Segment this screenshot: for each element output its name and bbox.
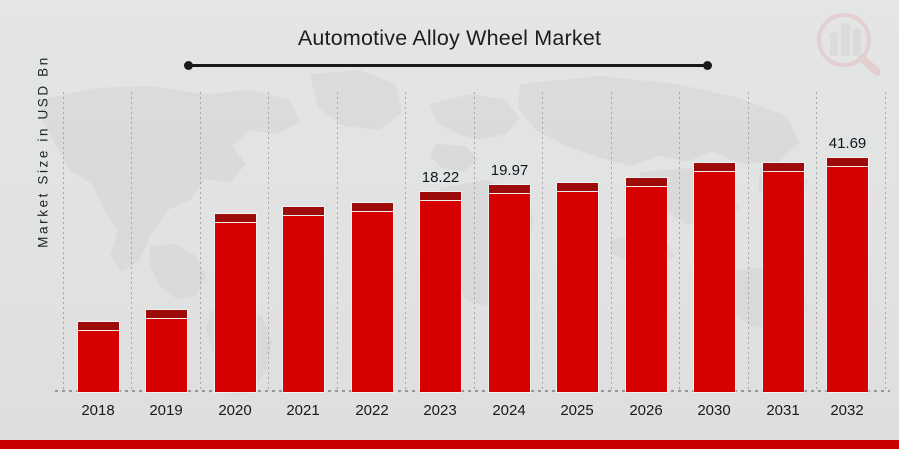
x-tick-2018: 2018 <box>64 402 132 419</box>
x-tick-2025: 2025 <box>543 402 611 419</box>
footer-accent-strip <box>0 440 899 449</box>
bar-value-label-2023: 18.22 <box>422 169 460 186</box>
bar-top-cap <box>557 183 598 192</box>
bar-value-label-2024: 19.97 <box>491 162 529 179</box>
gridline-2 <box>200 92 201 392</box>
gridline-0 <box>63 92 64 392</box>
x-tick-2030: 2030 <box>680 402 748 419</box>
bar-top-cap <box>763 163 804 172</box>
bar-2032[interactable]: 41.69 <box>827 158 868 392</box>
bar-fill <box>694 163 735 392</box>
bar-2030[interactable] <box>694 163 735 392</box>
bar-2031[interactable] <box>763 163 804 392</box>
bar-top-cap <box>78 322 119 331</box>
gridline-11 <box>816 92 817 392</box>
bar-2018[interactable] <box>78 322 119 392</box>
gridline-9 <box>679 92 680 392</box>
bar-fill <box>352 203 393 392</box>
bar-fill <box>420 192 461 392</box>
bar-top-cap <box>626 178 667 187</box>
rule-line <box>188 64 708 67</box>
bar-value-label-2032: 41.69 <box>829 135 867 152</box>
gridline-1 <box>131 92 132 392</box>
bar-2020[interactable] <box>215 214 256 392</box>
bar-top-cap <box>694 163 735 172</box>
bar-fill <box>557 183 598 392</box>
chart-title: Automotive Alloy Wheel Market <box>0 26 899 51</box>
bar-top-cap <box>146 310 187 319</box>
x-tick-2031: 2031 <box>749 402 817 419</box>
bar-top-cap <box>352 203 393 212</box>
x-tick-2022: 2022 <box>338 402 406 419</box>
bar-top-cap <box>420 192 461 201</box>
bar-top-cap <box>283 207 324 216</box>
bar-2023[interactable]: 18.22 <box>420 192 461 392</box>
bar-fill <box>626 178 667 392</box>
bar-2021[interactable] <box>283 207 324 392</box>
x-tick-2023: 2023 <box>406 402 474 419</box>
x-tick-2019: 2019 <box>132 402 200 419</box>
gridline-12 <box>885 92 886 392</box>
bar-2024[interactable]: 19.97 <box>489 185 530 392</box>
bar-2025[interactable] <box>557 183 598 392</box>
x-tick-2020: 2020 <box>201 402 269 419</box>
gridline-10 <box>748 92 749 392</box>
rule-dot-right-icon <box>703 61 712 70</box>
bar-fill <box>763 163 804 392</box>
y-axis-title: Market Size in USD Bn <box>36 2 51 302</box>
gridline-6 <box>474 92 475 392</box>
bar-fill <box>827 158 868 392</box>
chart-canvas: Automotive Alloy Wheel Market Market Siz… <box>0 0 899 449</box>
x-tick-2032: 2032 <box>813 402 881 419</box>
bar-fill <box>215 214 256 392</box>
bar-fill <box>78 322 119 392</box>
bar-fill <box>283 207 324 392</box>
bar-top-cap <box>827 158 868 167</box>
bar-top-cap <box>215 214 256 223</box>
bar-2026[interactable] <box>626 178 667 392</box>
bar-fill <box>146 310 187 392</box>
gridline-7 <box>542 92 543 392</box>
gridline-8 <box>611 92 612 392</box>
x-tick-2024: 2024 <box>475 402 543 419</box>
bar-fill <box>489 185 530 392</box>
x-tick-2021: 2021 <box>269 402 337 419</box>
gridline-5 <box>405 92 406 392</box>
bar-top-cap <box>489 185 530 194</box>
gridline-3 <box>268 92 269 392</box>
gridline-4 <box>337 92 338 392</box>
x-tick-2026: 2026 <box>612 402 680 419</box>
title-underline-rule <box>184 61 712 70</box>
bar-2022[interactable] <box>352 203 393 392</box>
bar-2019[interactable] <box>146 310 187 392</box>
